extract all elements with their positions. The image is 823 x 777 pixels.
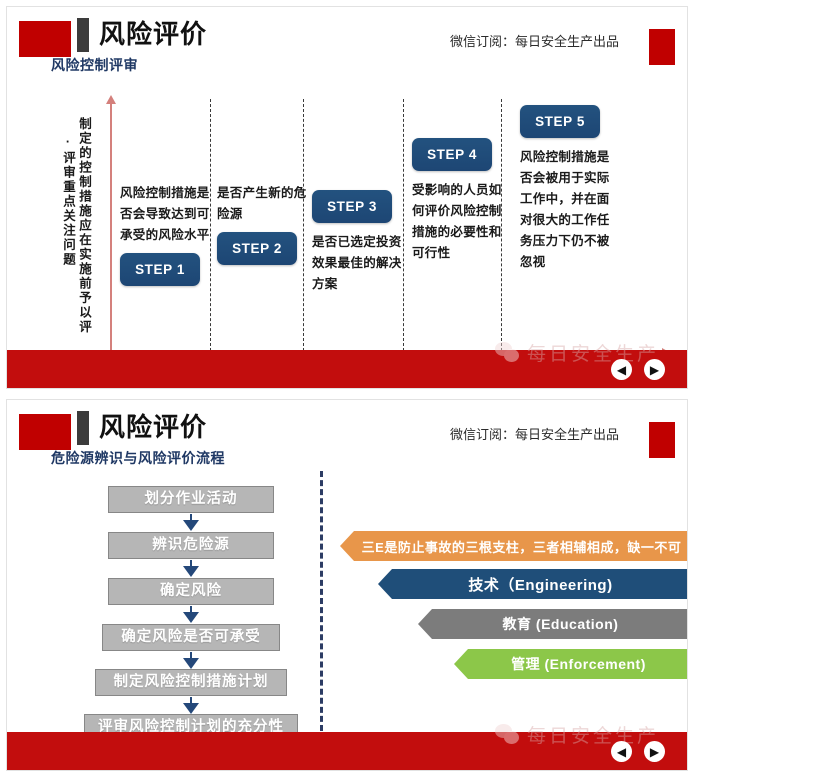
step-column-1[interactable]: 风险控制措施是否会导致达到可承受的风险水平 STEP 1 — [120, 183, 216, 286]
slide-hazard-identification-flow[interactable]: 风险评价 危险源辨识与风险评价流程 微信订阅：每日安全生产出品 划分作业活动 辨… — [6, 399, 688, 771]
page-subtitle: 危险源辨识与风险评价流程 — [51, 448, 225, 468]
step-description: 风险控制措施是否会被用于实际工作中，并在面对很大的工作任务压力下仍不被忽视 — [520, 147, 616, 273]
vertical-note-primary: 制定的控制措施应在实施前予以评 — [75, 117, 92, 337]
header-gray-bar — [77, 18, 89, 52]
slide-navigation[interactable]: ◀ ▶ — [611, 741, 665, 762]
wechat-subscription-note: 微信订阅：每日安全生产出品 — [450, 424, 619, 443]
step-column-2[interactable]: 是否产生新的危险源 STEP 2 — [217, 183, 313, 265]
step-column-3[interactable]: STEP 3 是否已选定投资效果最佳的解决方案 — [312, 190, 408, 295]
flow-arrow-5-icon — [183, 703, 199, 714]
flow-step-1[interactable]: 划分作业活动 — [108, 486, 274, 513]
section-divider — [320, 471, 323, 731]
header-red-block — [19, 21, 71, 57]
header-gray-bar — [77, 411, 89, 445]
footer-red-bar — [7, 732, 687, 770]
slide-navigation[interactable]: ◀ ▶ — [611, 359, 665, 380]
step-description: 是否已选定投资效果最佳的解决方案 — [312, 232, 408, 295]
header-red-square-right — [649, 422, 675, 458]
flow-arrow-3-icon — [183, 612, 199, 623]
flow-step-3[interactable]: 确定风险 — [108, 578, 274, 605]
slide-risk-control-review[interactable]: 风险评价 风险控制评审 微信订阅：每日安全生产出品 制定的控制措施应在实施前予以… — [6, 6, 688, 389]
page-title: 风险评价 — [99, 411, 207, 443]
step-description: 风险控制措施是否会导致达到可承受的风险水平 — [120, 183, 216, 246]
next-slide-icon[interactable]: ▶ — [644, 359, 665, 380]
three-e-enforcement[interactable]: 管理 (Enforcement) — [454, 649, 688, 679]
step-column-4[interactable]: STEP 4 受影响的人员如何评价风险控制措施的必要性和可行性 — [412, 138, 508, 264]
step-badge[interactable]: STEP 5 — [520, 105, 600, 138]
step-badge[interactable]: STEP 2 — [217, 232, 297, 265]
presentation-page: 风险评价 风险控制评审 微信订阅：每日安全生产出品 制定的控制措施应在实施前予以… — [0, 0, 823, 777]
flow-step-4[interactable]: 确定风险是否可承受 — [102, 624, 280, 651]
flow-arrow-2-icon — [183, 566, 199, 577]
header-red-square-right — [649, 29, 675, 65]
page-title: 风险评价 — [99, 18, 207, 50]
three-e-education[interactable]: 教育 (Education) — [418, 609, 688, 639]
step-badge[interactable]: STEP 3 — [312, 190, 392, 223]
step-column-5[interactable]: STEP 5 风险控制措施是否会被用于实际工作中，并在面对很大的工作任务压力下仍… — [520, 105, 616, 273]
step-badge[interactable]: STEP 1 — [120, 253, 200, 286]
next-slide-icon[interactable]: ▶ — [644, 741, 665, 762]
step-description: 是否产生新的危险源 — [217, 183, 313, 225]
step-description: 受影响的人员如何评价风险控制措施的必要性和可行性 — [412, 180, 508, 264]
three-e-engineering[interactable]: 技术（Engineering) — [378, 569, 688, 599]
step-badge[interactable]: STEP 4 — [412, 138, 492, 171]
header-red-block — [19, 414, 71, 450]
three-e-banner[interactable]: 三E是防止事故的三根支柱，三者相辅相成，缺一不可 — [340, 531, 688, 561]
flow-step-5[interactable]: 制定风险控制措施计划 — [95, 669, 287, 696]
page-subtitle: 风险控制评审 — [51, 55, 138, 75]
prev-slide-icon[interactable]: ◀ — [611, 359, 632, 380]
prev-slide-icon[interactable]: ◀ — [611, 741, 632, 762]
vertical-note-secondary: ·评审重点关注问题 — [59, 135, 76, 345]
axis-vertical — [110, 103, 112, 353]
flow-step-2[interactable]: 辨识危险源 — [108, 532, 274, 559]
flow-arrow-4-icon — [183, 658, 199, 669]
flow-arrow-1-icon — [183, 520, 199, 531]
wechat-subscription-note: 微信订阅：每日安全生产出品 — [450, 31, 619, 50]
footer-red-bar — [7, 350, 687, 388]
